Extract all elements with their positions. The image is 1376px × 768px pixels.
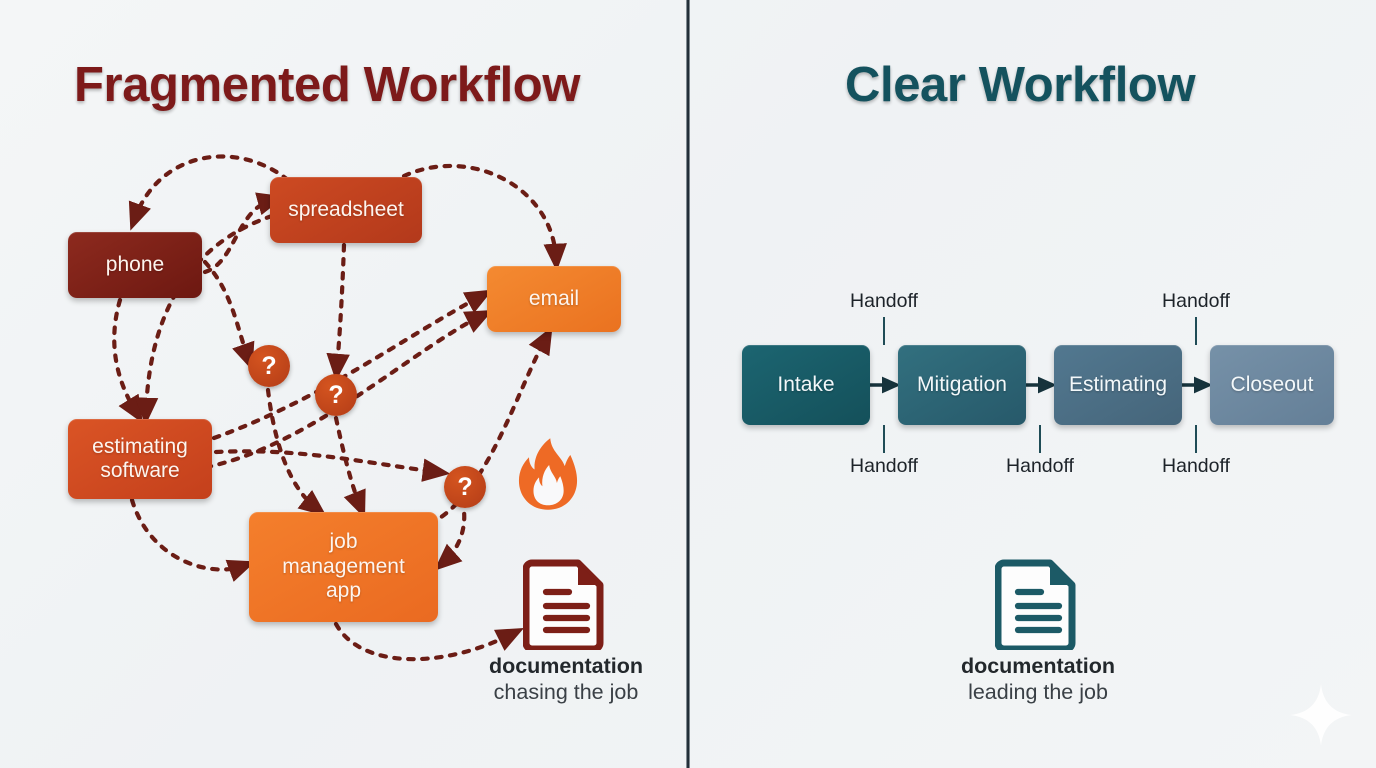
handoff-tick-bottom-1 bbox=[883, 425, 885, 453]
question-badge-2[interactable]: ? bbox=[315, 374, 357, 416]
handoff-label-top-2: Handoff bbox=[1162, 290, 1230, 313]
node-estimating-software-label: estimating software bbox=[92, 435, 188, 484]
flame-icon bbox=[512, 436, 584, 512]
node-phone[interactable]: phone bbox=[68, 232, 202, 298]
handoff-label-bottom-1: Handoff bbox=[850, 455, 918, 478]
stage-intake-label: Intake bbox=[777, 373, 834, 397]
handoff-label-top-1: Handoff bbox=[850, 290, 918, 313]
handoff-tick-bottom-2 bbox=[1039, 425, 1041, 453]
question-mark-icon: ? bbox=[261, 352, 276, 381]
documentation-subtitle-right: leading the job bbox=[918, 680, 1158, 705]
node-job-management-app-label: job management app bbox=[282, 530, 405, 603]
question-badge-3[interactable]: ? bbox=[444, 466, 486, 508]
question-badge-1[interactable]: ? bbox=[248, 345, 290, 387]
fragmented-workflow-panel: Fragmented Workflow bbox=[0, 0, 688, 768]
stage-mitigation[interactable]: Mitigation bbox=[898, 345, 1026, 425]
node-spreadsheet[interactable]: spreadsheet bbox=[270, 177, 422, 243]
stage-estimating-label: Estimating bbox=[1069, 373, 1167, 397]
node-email[interactable]: email bbox=[487, 266, 621, 332]
stage-estimating[interactable]: Estimating bbox=[1054, 345, 1182, 425]
sparkle-icon bbox=[1288, 682, 1354, 748]
clear-workflow-panel: Clear Workflow Intake bbox=[688, 0, 1376, 768]
node-email-label: email bbox=[529, 287, 579, 311]
question-mark-icon: ? bbox=[457, 473, 472, 502]
node-estimating-software[interactable]: estimating software bbox=[68, 419, 212, 499]
handoff-tick-bottom-3 bbox=[1195, 425, 1197, 453]
document-icon bbox=[995, 556, 1081, 650]
stage-intake[interactable]: Intake bbox=[742, 345, 870, 425]
documentation-title-left: documentation bbox=[446, 654, 686, 679]
stage-mitigation-label: Mitigation bbox=[917, 373, 1007, 397]
node-phone-label: phone bbox=[106, 253, 164, 277]
stage-closeout[interactable]: Closeout bbox=[1210, 345, 1334, 425]
documentation-callout-left: documentation chasing the job bbox=[446, 556, 686, 705]
documentation-title-right: documentation bbox=[918, 654, 1158, 679]
clear-workflow-title: Clear Workflow bbox=[845, 57, 1195, 113]
documentation-subtitle-left: chasing the job bbox=[446, 680, 686, 705]
panel-divider bbox=[686, 0, 690, 768]
handoff-tick-top-2 bbox=[1195, 317, 1197, 345]
handoff-tick-top-1 bbox=[883, 317, 885, 345]
documentation-callout-right: documentation leading the job bbox=[918, 556, 1158, 705]
diagram-canvas: Fragmented Workflow bbox=[0, 0, 1376, 768]
handoff-label-bottom-2: Handoff bbox=[1006, 455, 1074, 478]
question-mark-icon: ? bbox=[328, 381, 343, 410]
workflow-pipeline: Intake Mitigation Estimating Closeout Ha… bbox=[742, 345, 1342, 425]
stage-closeout-label: Closeout bbox=[1231, 373, 1314, 397]
document-icon bbox=[523, 556, 609, 650]
node-spreadsheet-label: spreadsheet bbox=[288, 198, 404, 222]
handoff-label-bottom-3: Handoff bbox=[1162, 455, 1230, 478]
node-job-management-app[interactable]: job management app bbox=[249, 512, 438, 622]
